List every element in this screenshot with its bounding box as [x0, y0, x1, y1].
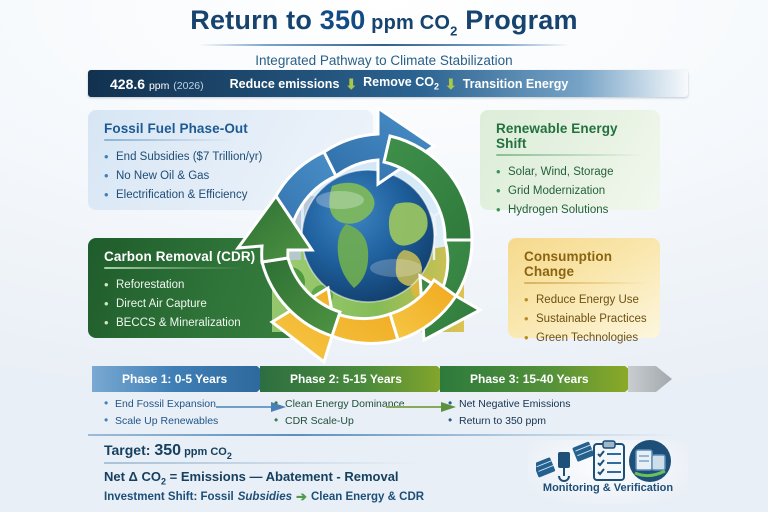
heading-underline [496, 154, 644, 156]
down-arrow-icon: ⬇ [345, 77, 357, 91]
banner-step-2: Remove CO2 [363, 75, 439, 92]
phase-details: End Fossil Expansion Scale Up Renewables… [104, 396, 674, 432]
phase-details-1: End Fossil Expansion Scale Up Renewables [104, 396, 218, 430]
banner-step-3: Transition Energy [463, 77, 569, 91]
list-item: Grid Modernization [496, 182, 644, 201]
checklist-clipboard-icon [594, 441, 624, 480]
list-item: CDR Scale-Up [274, 413, 405, 430]
ppm-unit: ppm [149, 80, 169, 92]
status-banner: 428.6 ppm (2026) Reduce emissions ⬇ Remo… [88, 70, 688, 97]
target-line: Target: 350 ppm CO2 [104, 442, 232, 461]
title-ppm-number: 350 [320, 5, 366, 35]
list-item: Solar, Wind, Storage [496, 163, 644, 182]
title-block: Return to 350 ppm CO2 Program Integrated… [0, 6, 768, 68]
phase-timeline: Phase 1: 0-5 Years Phase 2: 5-15 Years P… [92, 366, 672, 392]
list-item: Scale Up Renewables [104, 413, 218, 430]
page-title: Return to 350 ppm CO2 Program [0, 6, 768, 39]
net-co2-formula: Net Δ CO2 = Emissions — Abatement - Remo… [104, 469, 399, 487]
investment-to: Clean Energy & CDR [311, 491, 424, 503]
current-ppm-readout: 428.6 ppm (2026) [110, 76, 204, 92]
heading-underline [104, 139, 236, 141]
list-item: Return to 350 ppm [448, 413, 570, 430]
monitoring-label: Monitoring & Verification [528, 482, 688, 494]
list-item: End Fossil Expansion [104, 396, 218, 413]
panel-heading: Renewable Energy Shift [496, 121, 644, 151]
list-item: Sustainable Practices [524, 310, 644, 329]
ppm-year: (2026) [173, 80, 203, 92]
list-item: Reduce Energy Use [524, 291, 644, 310]
target-value: 350 [154, 442, 181, 459]
footer-divider [88, 434, 680, 436]
heading-underline [524, 282, 648, 284]
investment-from: Subsidies [238, 491, 292, 503]
phase-details-3: Net Negative Emissions Return to 350 ppm [448, 396, 570, 430]
phase-label: Phase 2: 5-15 Years [290, 372, 402, 386]
ppm-value: 428.6 [110, 76, 145, 92]
panel-list: Solar, Wind, Storage Grid Modernization … [496, 163, 644, 220]
phase-label: Phase 3: 15-40 Years [470, 372, 589, 386]
phase-label: Phase 1: 0-5 Years [122, 372, 227, 386]
page-subtitle: Integrated Pathway to Climate Stabilizat… [0, 53, 768, 68]
phase-chevron-2[interactable]: Phase 2: 5-15 Years [260, 366, 452, 392]
infographic-canvas: Return to 350 ppm CO2 Program Integrated… [0, 0, 768, 512]
panel-list: Reduce Energy Use Sustainable Practices … [524, 291, 644, 348]
satellite-icon [536, 441, 594, 481]
list-item: Hydrogen Solutions [496, 201, 644, 220]
phase-chevron-end-marker [628, 366, 672, 392]
phase-chevron-1[interactable]: Phase 1: 0-5 Years [92, 366, 272, 392]
down-arrow-icon: ⬇ [445, 77, 457, 91]
phase-chevron-3[interactable]: Phase 3: 15-40 Years [440, 366, 640, 392]
list-item: Net Negative Emissions [448, 396, 570, 413]
panel-consumption-change: Consumption Change Reduce Energy Use Sus… [508, 238, 660, 338]
phase-connector-arrow-2 [386, 402, 456, 412]
cycle-diagram [228, 100, 508, 372]
right-arrow-icon: ➔ [296, 490, 307, 503]
panel-heading: Consumption Change [524, 249, 644, 279]
data-server-globe-icon [629, 440, 671, 482]
banner-step-1: Reduce emissions [230, 77, 340, 91]
earth-globe-icon [302, 170, 434, 302]
heading-underline [104, 267, 244, 269]
list-item: Green Technologies [524, 329, 644, 348]
investment-shift-line: Investment Shift: Fossil Subsidies ➔ Cle… [104, 490, 424, 503]
banner-steps: Reduce emissions ⬇ Remove CO2 ⬇ Transiti… [230, 75, 569, 92]
target-underline [104, 462, 424, 464]
title-divider [199, 44, 569, 46]
monitoring-badge: Monitoring & Verification [528, 440, 688, 504]
